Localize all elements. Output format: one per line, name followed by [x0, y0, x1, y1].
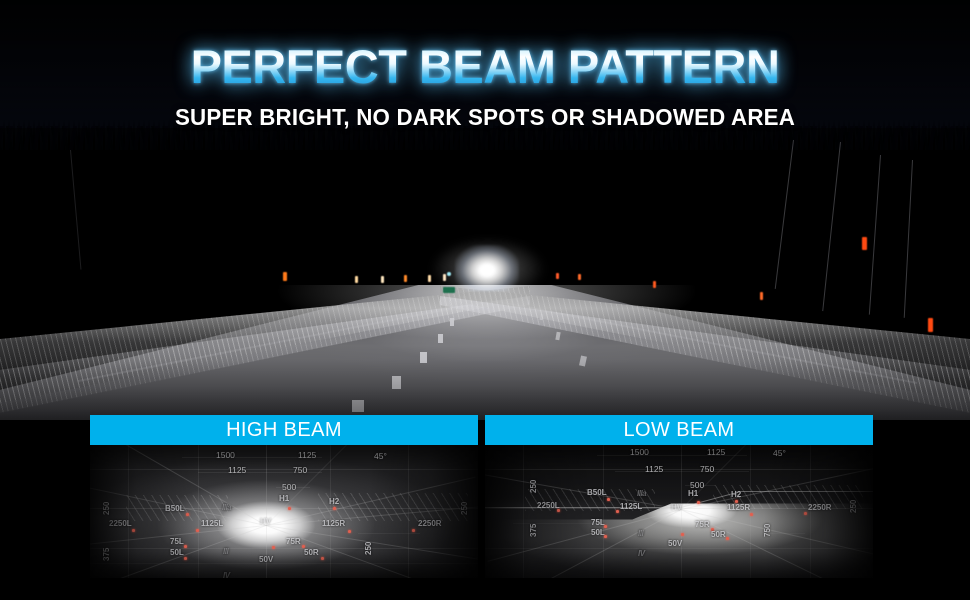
roadside-reflector: [283, 272, 287, 281]
roadside-reflector: [355, 276, 358, 283]
low-beam-diagram: 1500 1125 45° 1125 750 500 H1 H2 HV 50V …: [485, 445, 873, 578]
lane-marking: [438, 334, 443, 343]
roadside-reflector: [381, 276, 384, 283]
low-beam-label: LOW BEAM: [485, 415, 873, 445]
high-beam-label: HIGH BEAM: [90, 415, 478, 445]
green-road-sign: [443, 287, 455, 293]
roadside-reflector: [443, 274, 446, 281]
low-beam-panel: LOW BEAM: [485, 415, 873, 578]
roadside-reflector: [556, 273, 559, 279]
roadside-reflector: [862, 237, 867, 250]
page-title: PERFECT BEAM PATTERN: [0, 42, 970, 92]
roadside-reflector: [578, 274, 581, 280]
roadside-reflector: [653, 281, 656, 288]
roadside-reflector: [404, 275, 407, 282]
panel-vertical-fade: [90, 445, 478, 578]
page-subtitle: SUPER BRIGHT, NO DARK SPOTS OR SHADOWED …: [15, 104, 956, 130]
oncoming-headlight: [455, 245, 519, 291]
distant-sign-light: [447, 272, 451, 276]
roadside-reflector: [428, 275, 431, 282]
beam-pattern-banner: PERFECT BEAM PATTERN SUPER BRIGHT, NO DA…: [0, 0, 970, 600]
high-beam-diagram: 1500 1125 45° 1125 750 500 H1 H2 HV 50V …: [90, 445, 478, 578]
roadside-reflector: [760, 292, 763, 300]
panel-vertical-fade: [485, 445, 873, 578]
roadside-reflector: [928, 318, 933, 332]
high-beam-panel: HIGH BEAM: [90, 415, 478, 578]
